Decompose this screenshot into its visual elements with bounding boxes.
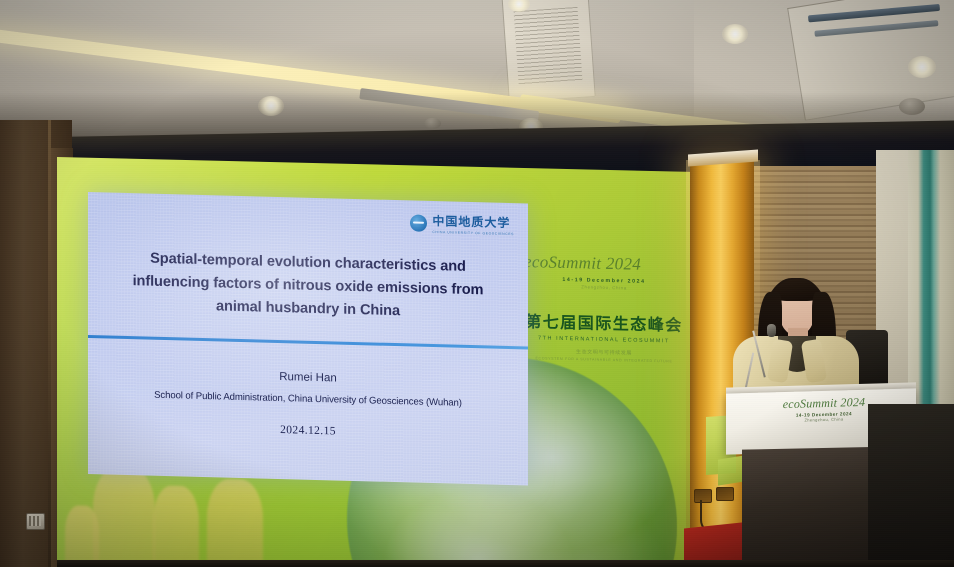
light-switch-rocker [29,516,41,526]
light-switch-icon[interactable] [26,513,45,530]
slide-projector-glow [88,192,528,486]
spotlight-icon [722,24,748,44]
projected-slide: 中国地质大学 CHINA UNIVERSITY OF GEOSCIENCES S… [88,192,528,486]
power-outlet-icon [716,487,734,501]
microphone-capsule [767,324,776,337]
podium-right-dark-area [868,404,954,567]
ceiling-air-vent [501,0,595,103]
spotlight-icon [908,56,936,78]
stage-floor [57,560,954,567]
presentation-room-photo: ecoSummit 2024 14-19 December 2024 Zheng… [0,0,954,567]
left-wall-edge [48,120,51,567]
